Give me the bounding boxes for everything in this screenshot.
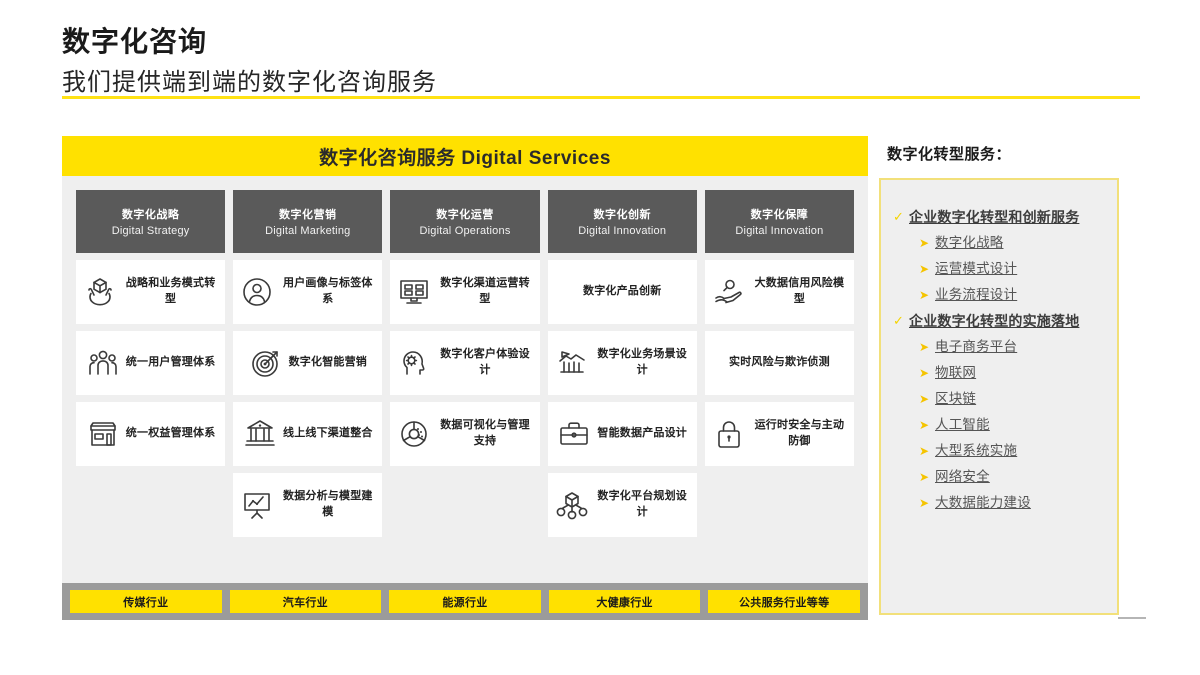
lock-icon [712,417,746,451]
service-card-label: 智能数据产品设计 [597,426,687,442]
list-item-label: 物联网 [935,362,976,384]
service-card-label: 数字化平台规划设计 [595,489,690,521]
industry-tag-strip: 传媒行业汽车行业能源行业大健康行业公共服务行业等等 [62,583,868,620]
network-nodes-icon [555,488,589,522]
service-card[interactable]: 大数据信用风险模型 [705,260,854,324]
service-card[interactable]: 数字化客户体验设计 [390,331,539,395]
right-divider-rule [1118,617,1146,619]
service-group-item[interactable]: ✓企业数字化转型的实施落地 [893,310,1107,332]
arrow-bullet-icon: ➤ [919,492,935,514]
panel-banner: 数字化咨询服务 Digital Services [62,136,868,176]
check-icon: ✓ [893,310,909,332]
column-header: 数字化创新Digital Innovation [548,190,697,253]
briefcase-icon [557,417,591,451]
transformation-services-list: ✓企业数字化转型和创新服务➤数字化战略➤运营模式设计➤业务流程设计✓企业数字化转… [893,206,1107,514]
list-item-label: 大数据能力建设 [935,492,1031,514]
column-header-cn: 数字化运营 [436,206,494,222]
service-card[interactable]: 运行时安全与主动防御 [705,402,854,466]
industry-tag[interactable]: 传媒行业 [70,590,222,613]
service-card[interactable]: 实时风险与欺诈侦测 [705,331,854,395]
digital-services-panel: 数字化咨询服务 Digital Services 数字化战略Digital St… [62,136,868,620]
service-group-item[interactable]: ✓企业数字化转型和创新服务 [893,206,1107,228]
service-card[interactable]: 数字化产品创新 [548,260,697,324]
column-header-en: Digital Innovation [735,225,823,237]
service-card[interactable]: 数据分析与模型建模 [233,473,382,537]
service-card-label: 运行时安全与主动防御 [752,418,847,450]
service-card[interactable]: 数字化渠道运营转型 [390,260,539,324]
list-item-label: 区块链 [935,388,976,410]
service-card-label: 统一权益管理体系 [126,426,216,442]
column-header: 数字化运营Digital Operations [390,190,539,253]
service-card[interactable]: 线上线下渠道整合 [233,402,382,466]
monitor-grid-icon [397,275,431,309]
industry-tag[interactable]: 能源行业 [389,590,541,613]
column-header-en: Digital Marketing [265,225,350,237]
service-sub-item[interactable]: ➤物联网 [893,362,1107,384]
title-underline-rule [62,96,1140,99]
column-header: 数字化营销Digital Marketing [233,190,382,253]
arrow-bullet-icon: ➤ [919,232,935,254]
arrow-bullet-icon: ➤ [919,284,935,306]
column-header-en: Digital Operations [419,225,510,237]
service-card-label: 数字化客户体验设计 [437,347,532,379]
transformation-services-box: ✓企业数字化转型和创新服务➤数字化战略➤运营模式设计➤业务流程设计✓企业数字化转… [879,178,1119,615]
service-card[interactable]: 数据可视化与管理支持 [390,402,539,466]
target-dart-icon [249,346,283,380]
list-item-label: 数字化战略 [935,232,1004,254]
column-header-cn: 数字化战略 [122,206,180,222]
service-card-label: 数字化产品创新 [555,284,690,300]
handshake-flag-icon [555,346,589,380]
list-item-label: 企业数字化转型和创新服务 [909,206,1079,228]
service-card-label: 大数据信用风险模型 [752,276,847,308]
arrow-bullet-icon: ➤ [919,258,935,280]
people-group-icon [86,346,120,380]
service-sub-item[interactable]: ➤区块链 [893,388,1107,410]
arrow-bullet-icon: ➤ [919,414,935,436]
storefront-icon [86,417,120,451]
slide-root: 数字化咨询 我们提供端到端的数字化咨询服务 数字化咨询服务 Digital Se… [0,0,1200,675]
service-sub-item[interactable]: ➤网络安全 [893,466,1107,488]
arrow-bullet-icon: ➤ [919,362,935,384]
donut-chart-icon [397,417,431,451]
arrow-bullet-icon: ➤ [919,336,935,358]
page-title: 数字化咨询 [62,20,207,60]
industry-tag[interactable]: 大健康行业 [549,590,701,613]
service-sub-item[interactable]: ➤人工智能 [893,414,1107,436]
panel-banner-label: 数字化咨询服务 Digital Services [319,143,611,170]
column-header-en: Digital Strategy [112,225,190,237]
service-card-label: 数字化业务场景设计 [595,347,690,379]
service-card-label: 数据可视化与管理支持 [437,418,532,450]
list-item-label: 网络安全 [935,466,990,488]
service-sub-item[interactable]: ➤电子商务平台 [893,336,1107,358]
list-item-label: 业务流程设计 [935,284,1017,306]
service-card-label: 数字化智能营销 [289,355,367,371]
head-gear-icon [397,346,431,380]
check-icon: ✓ [893,206,909,228]
chart-board-icon [240,488,274,522]
service-sub-item[interactable]: ➤数字化战略 [893,232,1107,254]
service-card-label: 数字化渠道运营转型 [437,276,532,308]
hand-magnify-icon [712,275,746,309]
service-card[interactable]: 统一用户管理体系 [76,331,225,395]
column-header: 数字化战略Digital Strategy [76,190,225,253]
service-card[interactable]: 用户画像与标签体系 [233,260,382,324]
list-item-label: 企业数字化转型的实施落地 [909,310,1079,332]
industry-tag[interactable]: 汽车行业 [230,590,382,613]
arrow-bullet-icon: ➤ [919,440,935,462]
list-item-label: 运营模式设计 [935,258,1017,280]
bank-building-icon [243,417,277,451]
list-item-label: 电子商务平台 [935,336,1017,358]
column-header-cn: 数字化保障 [751,206,809,222]
column-header-en: Digital Innovation [578,225,666,237]
column-header: 数字化保障Digital Innovation [705,190,854,253]
column-header-cn: 数字化创新 [593,206,651,222]
service-card-label: 统一用户管理体系 [126,355,216,371]
service-card-label: 数据分析与模型建模 [280,489,375,521]
arrow-bullet-icon: ➤ [919,388,935,410]
service-card-label: 战略和业务模式转型 [123,276,218,308]
service-sub-item[interactable]: ➤大数据能力建设 [893,492,1107,514]
service-sub-item[interactable]: ➤大型系统实施 [893,440,1107,462]
service-card[interactable]: 统一权益管理体系 [76,402,225,466]
hands-cube-icon [83,275,117,309]
arrow-bullet-icon: ➤ [919,466,935,488]
column-header-cn: 数字化营销 [279,206,337,222]
right-panel-title: 数字化转型服务： [887,143,1011,164]
service-sub-item[interactable]: ➤运营模式设计 [893,258,1107,280]
service-card[interactable]: 数字化智能营销 [233,331,382,395]
service-card-label: 线上线下渠道整合 [283,426,373,442]
list-item-label: 大型系统实施 [935,440,1017,462]
service-card[interactable]: 智能数据产品设计 [548,402,697,466]
service-card-label: 用户画像与标签体系 [280,276,375,308]
service-card[interactable]: 数字化平台规划设计 [548,473,697,537]
service-card[interactable]: 数字化业务场景设计 [548,331,697,395]
service-card-label: 实时风险与欺诈侦测 [712,355,847,371]
page-subtitle: 我们提供端到端的数字化咨询服务 [62,62,437,97]
user-portrait-icon [240,275,274,309]
industry-tag[interactable]: 公共服务行业等等 [708,590,860,613]
list-item-label: 人工智能 [935,414,990,436]
service-sub-item[interactable]: ➤业务流程设计 [893,284,1107,306]
service-card[interactable]: 战略和业务模式转型 [76,260,225,324]
